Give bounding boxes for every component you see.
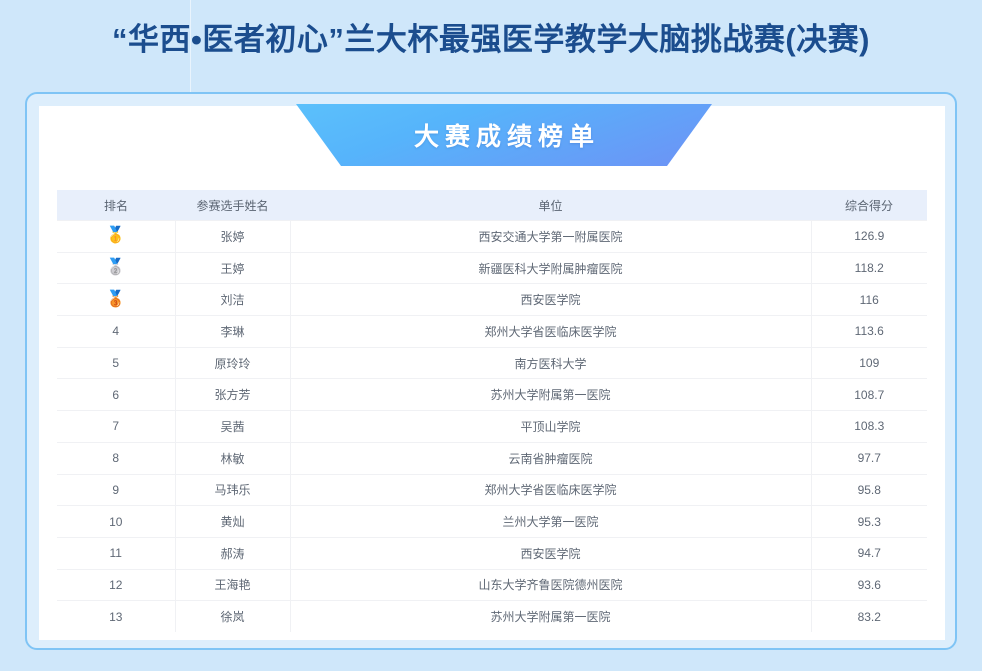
cell-unit: 苏州大学附属第一医院 (290, 379, 811, 411)
cell-rank: 7 (57, 411, 175, 443)
cell-name: 刘洁 (175, 284, 290, 316)
table-row: 13徐岚苏州大学附属第一医院83.2 (57, 601, 927, 632)
cell-unit: 兰州大学第一医院 (290, 506, 811, 538)
cell-unit: 西安医学院 (290, 284, 811, 316)
cell-unit: 新疆医科大学附属肿瘤医院 (290, 252, 811, 284)
cell-name: 张方芳 (175, 379, 290, 411)
cell-name: 马玮乐 (175, 474, 290, 506)
cell-unit: 山东大学齐鲁医院德州医院 (290, 569, 811, 601)
cell-score: 95.8 (811, 474, 927, 506)
cell-score: 116 (811, 284, 927, 316)
cell-rank: 8 (57, 442, 175, 474)
cell-rank: 🥈 (57, 252, 175, 284)
column-header-unit: 单位 (290, 190, 811, 221)
cell-name: 黄灿 (175, 506, 290, 538)
column-header-rank: 排名 (57, 190, 175, 221)
bronze-medal-icon: 🥉 (106, 292, 126, 308)
cell-rank: 11 (57, 537, 175, 569)
cell-unit: 郑州大学省医临床医学院 (290, 474, 811, 506)
column-header-name: 参赛选手姓名 (175, 190, 290, 221)
cell-name: 吴茜 (175, 411, 290, 443)
table-row: 8林敏云南省肿瘤医院97.7 (57, 442, 927, 474)
cell-unit: 平顶山学院 (290, 411, 811, 443)
cell-unit: 苏州大学附属第一医院 (290, 601, 811, 632)
cell-score: 83.2 (811, 601, 927, 632)
leaderboard-card: 大赛成绩榜单 排名 参赛选手姓名 单位 综合得分 🥇 (25, 92, 957, 650)
results-table-container: 排名 参赛选手姓名 单位 综合得分 🥇张婷西安交通大学第一附属医院126.9🥈王… (57, 190, 927, 632)
table-header: 排名 参赛选手姓名 单位 综合得分 (57, 190, 927, 221)
table-row: 9马玮乐郑州大学省医临床医学院95.8 (57, 474, 927, 506)
cell-score: 95.3 (811, 506, 927, 538)
column-header-score: 综合得分 (811, 190, 927, 221)
cell-name: 林敏 (175, 442, 290, 474)
cell-unit: 云南省肿瘤医院 (290, 442, 811, 474)
table-row: 6张方芳苏州大学附属第一医院108.7 (57, 379, 927, 411)
cell-rank: 6 (57, 379, 175, 411)
results-table: 排名 参赛选手姓名 单位 综合得分 🥇张婷西安交通大学第一附属医院126.9🥈王… (57, 190, 927, 632)
cell-name: 徐岚 (175, 601, 290, 632)
page-root: “华西•医者初心”兰大杯最强医学教学大脑挑战赛(决赛) 大赛成绩榜单 排名 参赛… (0, 0, 982, 671)
cell-name: 李琳 (175, 316, 290, 348)
gold-medal-icon: 🥇 (106, 228, 126, 244)
cell-rank: 5 (57, 347, 175, 379)
cell-rank: 9 (57, 474, 175, 506)
cell-score: 94.7 (811, 537, 927, 569)
table-row: 5原玲玲南方医科大学109 (57, 347, 927, 379)
table-row: 11郝涛西安医学院94.7 (57, 537, 927, 569)
cell-rank: 10 (57, 506, 175, 538)
table-row: 10黄灿兰州大学第一医院95.3 (57, 506, 927, 538)
cell-score: 109 (811, 347, 927, 379)
cell-name: 郝涛 (175, 537, 290, 569)
cell-score: 126.9 (811, 221, 927, 253)
cell-rank: 13 (57, 601, 175, 632)
cell-score: 113.6 (811, 316, 927, 348)
cell-name: 张婷 (175, 221, 290, 253)
table-row: 🥇张婷西安交通大学第一附属医院126.9 (57, 221, 927, 253)
cell-unit: 西安医学院 (290, 537, 811, 569)
table-row: 🥉刘洁西安医学院116 (57, 284, 927, 316)
cell-name: 王婷 (175, 252, 290, 284)
cell-score: 97.7 (811, 442, 927, 474)
cell-rank: 🥇 (57, 221, 175, 253)
cell-unit: 南方医科大学 (290, 347, 811, 379)
page-title: “华西•医者初心”兰大杯最强医学教学大脑挑战赛(决赛) (0, 18, 982, 62)
table-row: 12王海艳山东大学齐鲁医院德州医院93.6 (57, 569, 927, 601)
cell-unit: 郑州大学省医临床医学院 (290, 316, 811, 348)
cell-score: 108.7 (811, 379, 927, 411)
banner: 大赛成绩榜单 (269, 104, 739, 166)
table-body: 🥇张婷西安交通大学第一附属医院126.9🥈王婷新疆医科大学附属肿瘤医院118.2… (57, 221, 927, 632)
cell-score: 108.3 (811, 411, 927, 443)
table-row: 7吴茜平顶山学院108.3 (57, 411, 927, 443)
table-header-row: 排名 参赛选手姓名 单位 综合得分 (57, 190, 927, 221)
cell-score: 118.2 (811, 252, 927, 284)
cell-score: 93.6 (811, 569, 927, 601)
silver-medal-icon: 🥈 (106, 260, 126, 276)
table-row: 🥈王婷新疆医科大学附属肿瘤医院118.2 (57, 252, 927, 284)
cell-rank: 🥉 (57, 284, 175, 316)
cell-rank: 12 (57, 569, 175, 601)
cell-name: 王海艳 (175, 569, 290, 601)
table-row: 4李琳郑州大学省医临床医学院113.6 (57, 316, 927, 348)
cell-unit: 西安交通大学第一附属医院 (290, 221, 811, 253)
cell-name: 原玲玲 (175, 347, 290, 379)
leaderboard-panel: 大赛成绩榜单 排名 参赛选手姓名 单位 综合得分 🥇 (39, 106, 945, 640)
banner-title: 大赛成绩榜单 (269, 104, 739, 166)
cell-rank: 4 (57, 316, 175, 348)
